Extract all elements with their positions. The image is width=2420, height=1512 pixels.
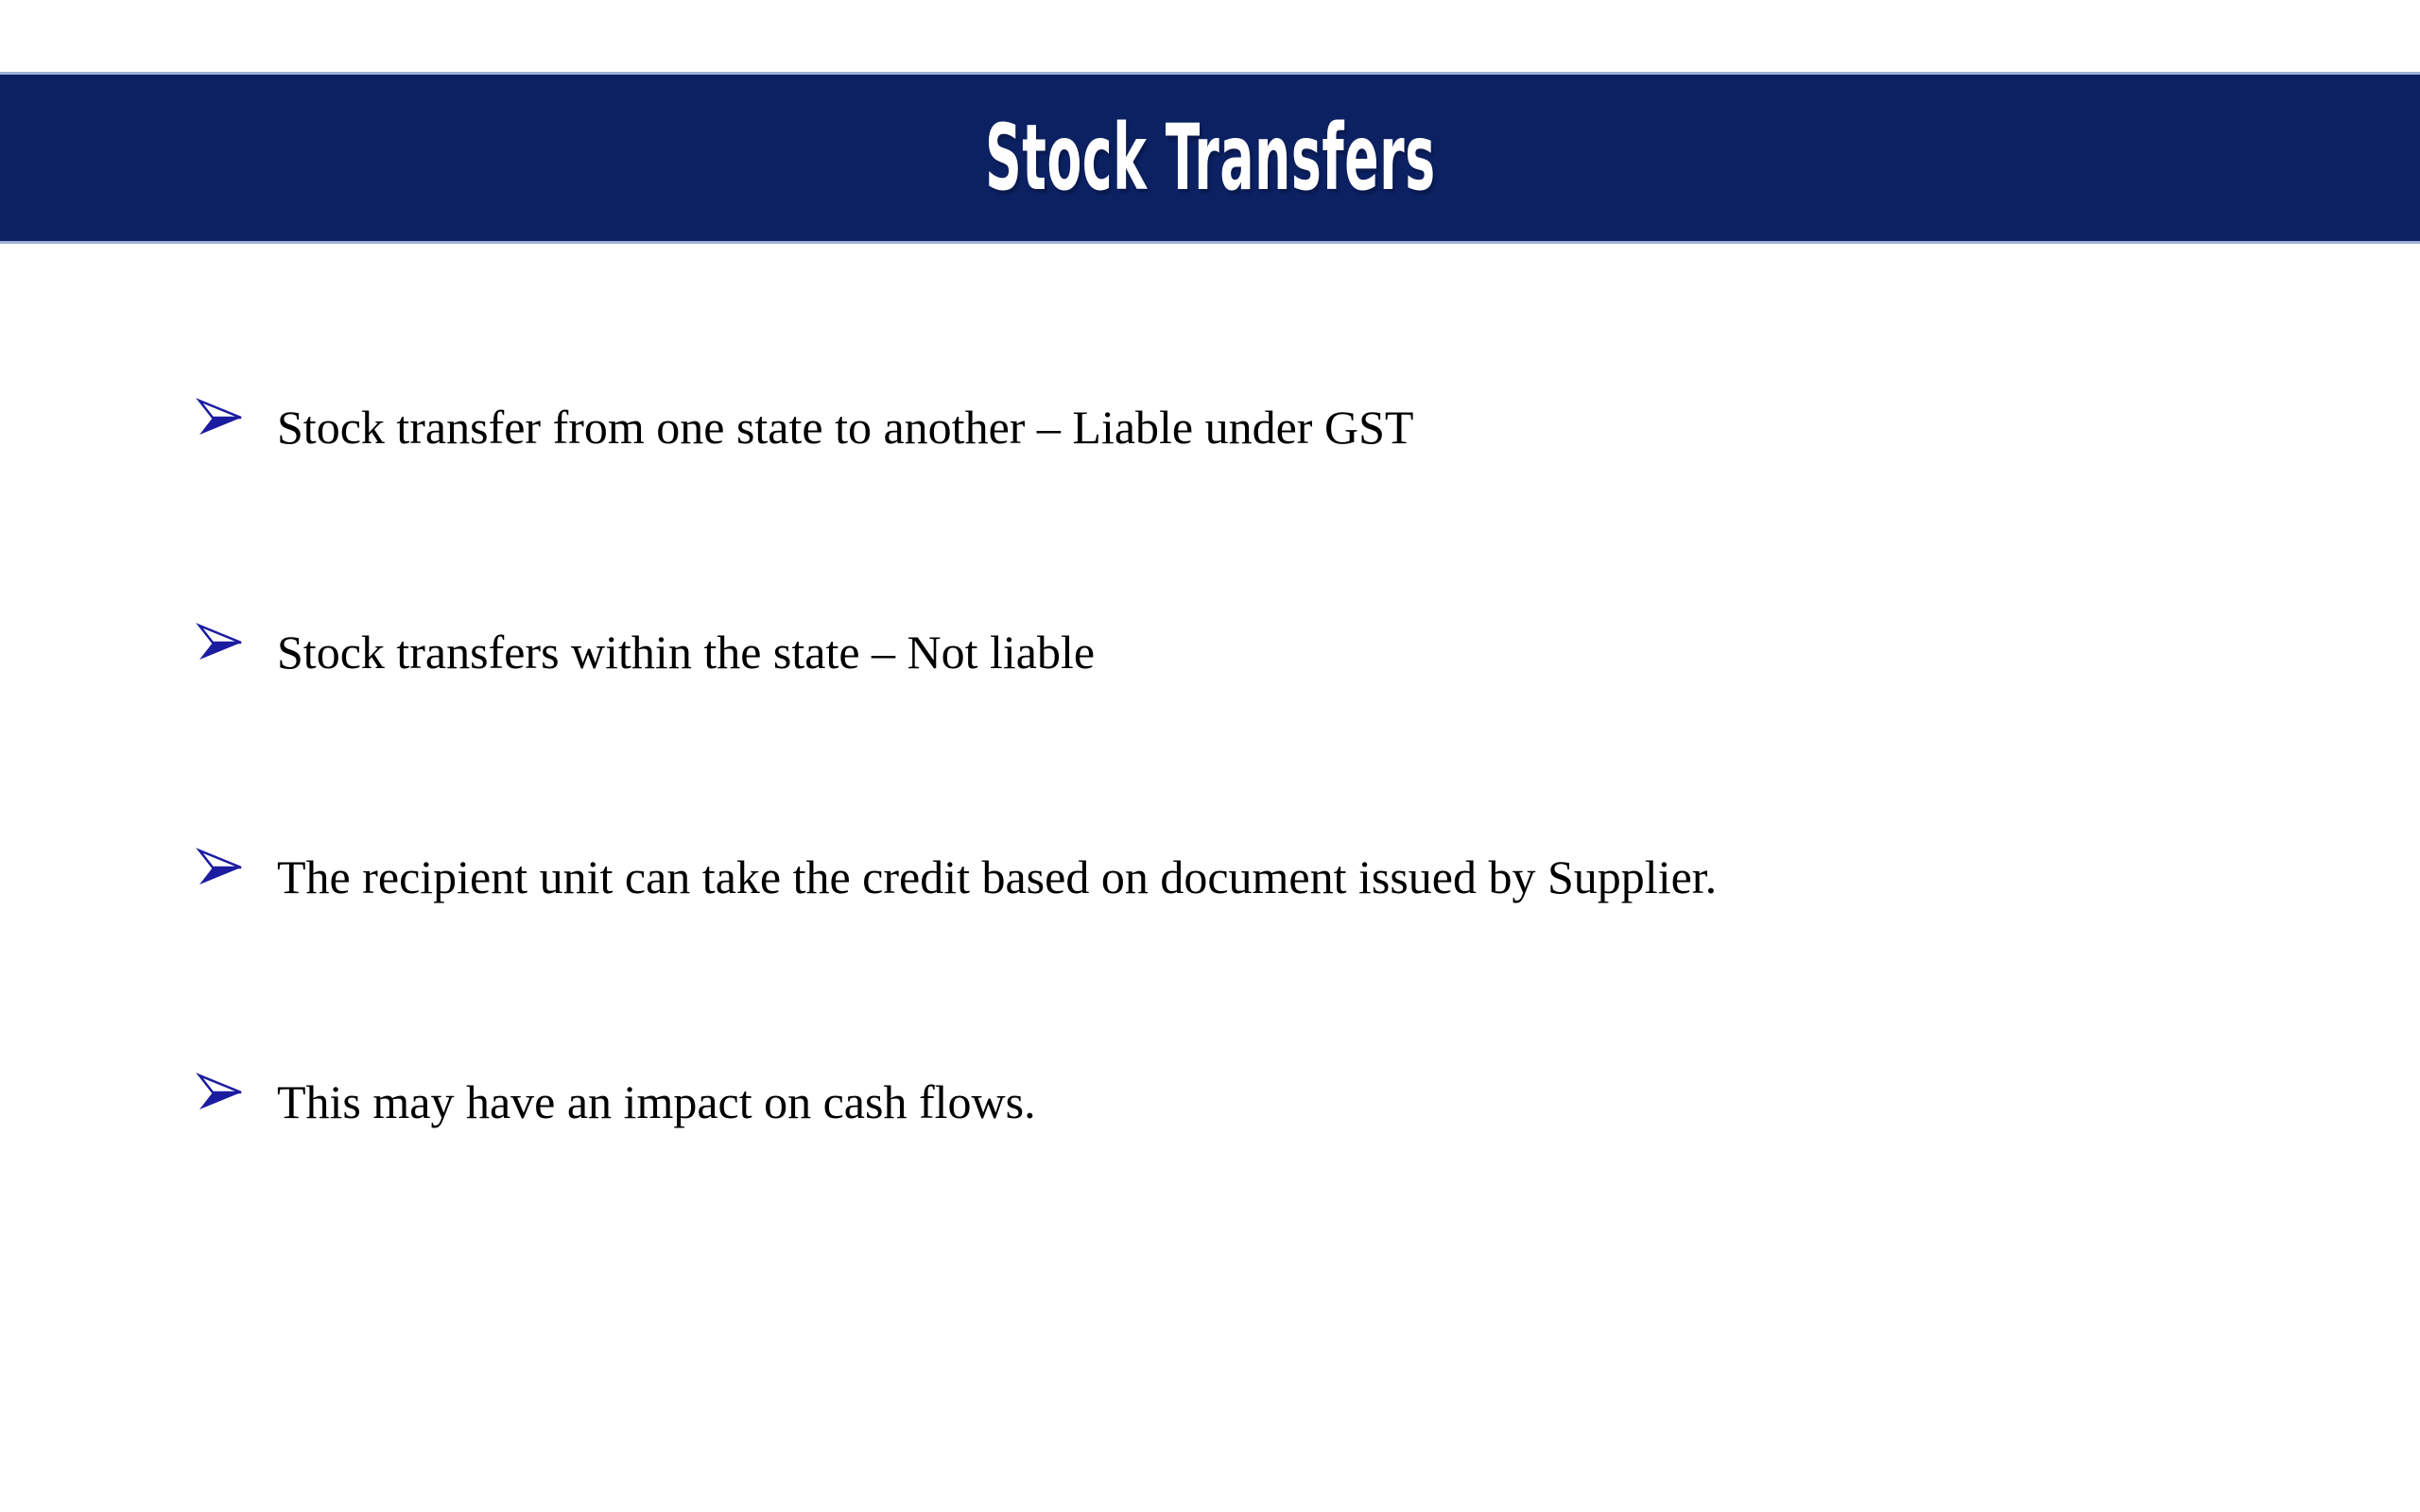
arrow-head-bullet-icon xyxy=(194,391,247,444)
list-item-label: Stock transfers within the state – Not l… xyxy=(277,592,2321,713)
slide: Stock Transfers Stock transfer from one … xyxy=(0,0,2420,1512)
title-banner: Stock Transfers xyxy=(0,72,2420,244)
list-item: The recipient unit can take the credit b… xyxy=(194,816,2168,937)
list-item: Stock transfer from one state to another… xyxy=(194,367,2321,488)
slide-body: Stock transfer from one state to another… xyxy=(0,244,2420,1512)
page-title: Stock Transfers xyxy=(985,112,1436,203)
list-item: Stock transfers within the state – Not l… xyxy=(194,592,2321,713)
arrow-head-bullet-icon xyxy=(194,841,247,894)
list-item-label: The recipient unit can take the credit b… xyxy=(277,816,2168,937)
arrow-head-bullet-icon xyxy=(194,1066,247,1119)
list-item-label: Stock transfer from one state to another… xyxy=(277,367,2321,488)
arrow-head-bullet-icon xyxy=(194,616,247,669)
list-item-label: This may have an impact on cash flows. xyxy=(277,1041,2321,1162)
list-item: This may have an impact on cash flows. xyxy=(194,1041,2321,1162)
bullet-list: Stock transfer from one state to another… xyxy=(194,367,2321,1162)
